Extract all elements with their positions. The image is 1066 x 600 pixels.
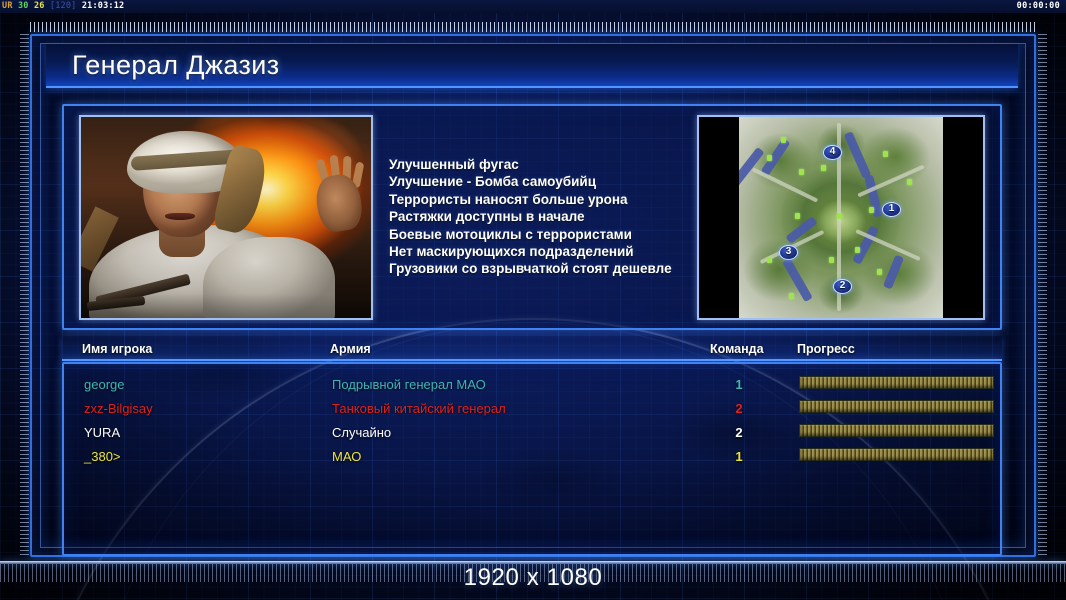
general-bonus-line: Боевые мотоциклы с террористами <box>389 226 689 243</box>
player-progress-bar <box>799 376 994 389</box>
general-portrait <box>79 115 373 320</box>
minimap-start-position-3[interactable]: 3 <box>779 245 798 260</box>
minimap-resource <box>821 165 826 171</box>
os-status-bar: UR 30 26 [120] 21:03:12 00:00:00 <box>0 0 1066 13</box>
player-name: george <box>84 377 124 392</box>
resolution-label: 1920 x 1080 <box>0 564 1066 592</box>
player-name: _380> <box>84 449 121 464</box>
minimap-resource <box>907 179 912 185</box>
column-header-player: Имя игрока <box>82 342 152 356</box>
minimap-start-position-1[interactable]: 1 <box>882 202 901 217</box>
minimap-preview: 1 2 3 4 <box>697 115 985 320</box>
minimap-resource <box>877 269 882 275</box>
game-screen: UR 30 26 [120] 21:03:12 00:00:00 Генерал… <box>0 0 1066 600</box>
general-bonus-line: Нет маскирующихся подразделений <box>389 243 689 260</box>
minimap-resource <box>789 293 794 299</box>
player-army: Танковый китайский генерал <box>332 401 506 416</box>
minimap-letterbox-right <box>943 117 983 318</box>
page-title: Генерал Джазиз <box>72 50 280 81</box>
column-header-team: Команда <box>710 342 764 356</box>
player-team: 1 <box>724 449 754 464</box>
minimap-resource <box>829 257 834 263</box>
minimap-resource <box>795 213 800 219</box>
os-status-stats: UR 30 26 [120] 21:03:12 <box>2 0 124 13</box>
minimap-image: 1 2 3 4 <box>737 117 945 318</box>
table-row[interactable]: georgeПодрывной генерал МАО1 <box>64 372 1000 396</box>
ruler-right <box>1038 34 1047 557</box>
ruler-top <box>30 22 1036 32</box>
general-info-panel: Улучшенный фугасУлучшение - Бомба самоуб… <box>62 104 1002 330</box>
minimap-resource <box>837 213 842 219</box>
player-team: 1 <box>724 377 754 392</box>
general-bonus-line: Грузовики со взрывчаткой стоят дешевле <box>389 260 689 277</box>
os-stat-b: 26 <box>34 1 45 11</box>
table-row[interactable]: _380>МАО1 <box>64 444 1000 468</box>
general-bonus-line: Улучшение - Бомба самоубийц <box>389 173 689 190</box>
minimap-resource <box>799 169 804 175</box>
player-name: zxz-Bilgisay <box>84 401 153 416</box>
os-session-time: 21:03:12 <box>82 1 125 11</box>
ruler-left <box>20 34 29 557</box>
player-name: YURA <box>84 425 120 440</box>
os-clock: 00:00:00 <box>1017 0 1060 13</box>
general-bonus-line: Террористы наносят больше урона <box>389 191 689 208</box>
player-progress-bar <box>799 424 994 437</box>
player-table: georgeПодрывной генерал МАО1zxz-Bilgisay… <box>62 362 1002 556</box>
general-bonus-line: Растяжки доступны в начале <box>389 208 689 225</box>
minimap-start-position-4[interactable]: 4 <box>823 145 842 160</box>
table-row[interactable]: zxz-BilgisayТанковый китайский генерал2 <box>64 396 1000 420</box>
minimap-start-position-2[interactable]: 2 <box>833 279 852 294</box>
general-bonus-line: Улучшенный фугас <box>389 156 689 173</box>
title-bar: Генерал Джазиз <box>46 44 1018 88</box>
column-header-army: Армия <box>330 342 371 356</box>
portrait-shading <box>81 117 371 318</box>
player-progress-bar <box>799 448 994 461</box>
minimap-resource <box>883 151 888 157</box>
minimap-river <box>844 131 872 179</box>
minimap-river <box>782 258 813 302</box>
minimap-river <box>883 255 904 290</box>
os-stat-c: [120] <box>50 1 77 11</box>
minimap-road <box>752 167 818 202</box>
minimap-resource <box>781 137 786 143</box>
table-row[interactable]: YURAСлучайно2 <box>64 420 1000 444</box>
player-army: Случайно <box>332 425 391 440</box>
minimap-resource <box>767 257 772 263</box>
player-army: МАО <box>332 449 361 464</box>
minimap-resource <box>855 247 860 253</box>
player-army: Подрывной генерал МАО <box>332 377 486 392</box>
minimap-letterbox-left <box>699 117 739 318</box>
column-header-progress: Прогресс <box>797 342 855 356</box>
minimap-river <box>761 138 791 176</box>
player-table-header: Имя игрока Армия Команда Прогресс <box>62 336 1002 361</box>
os-label-ur: UR <box>2 1 13 11</box>
minimap-resource <box>869 207 874 213</box>
portrait-image <box>81 117 371 318</box>
player-team: 2 <box>724 425 754 440</box>
minimap-resource <box>767 155 772 161</box>
player-team: 2 <box>724 401 754 416</box>
os-stat-a: 30 <box>18 1 29 11</box>
player-progress-bar <box>799 400 994 413</box>
general-bonus-list: Улучшенный фугасУлучшение - Бомба самоуб… <box>389 156 689 278</box>
